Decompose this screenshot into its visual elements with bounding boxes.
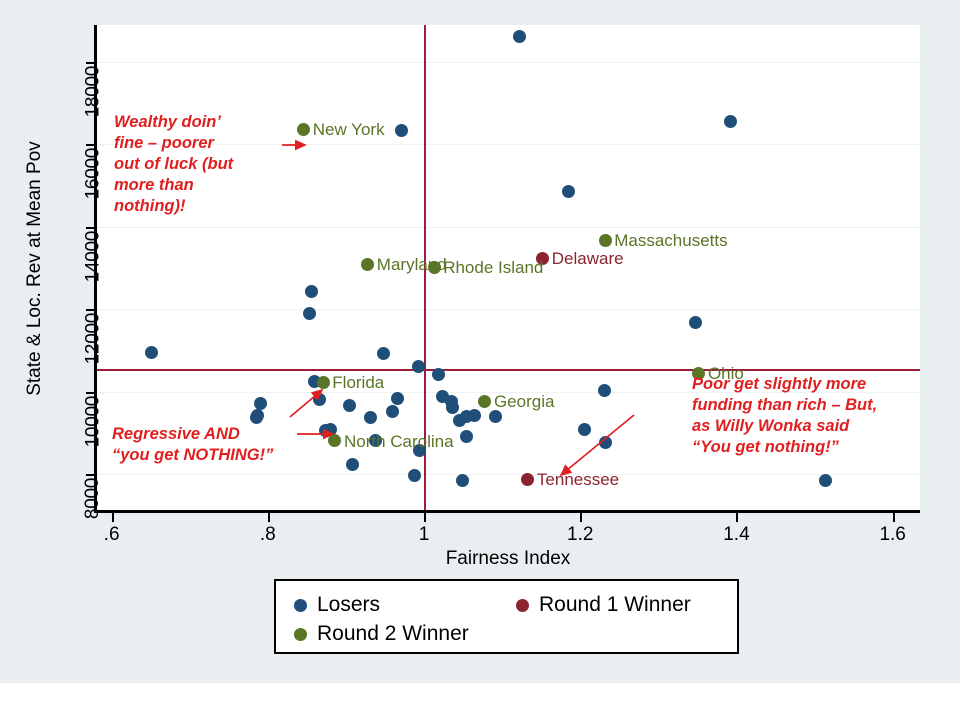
- x-tick-label: 1: [384, 524, 464, 546]
- y-tick: [86, 62, 95, 64]
- point-label-florida: Florida: [332, 374, 384, 391]
- scatter-point: [598, 384, 611, 397]
- scatter-point: [317, 376, 330, 389]
- scatter-point: [578, 423, 591, 436]
- x-tick: [736, 513, 738, 522]
- point-label-massachusetts: Massachusetts: [614, 232, 727, 249]
- scatter-point: [432, 368, 445, 381]
- point-label-new-york: New York: [313, 121, 385, 138]
- point-label-tennessee: Tennessee: [537, 471, 619, 488]
- y-tick-label: 16000: [82, 148, 104, 199]
- x-tick-label: 1.2: [540, 524, 620, 546]
- x-tick-label: .6: [72, 524, 152, 546]
- scatter-point: [689, 316, 702, 329]
- y-tick: [86, 227, 95, 229]
- legend-marker-round-2-winner: [294, 628, 307, 641]
- scatter-point: [456, 474, 469, 487]
- gridline-y: [96, 62, 920, 63]
- scatter-point: [819, 474, 832, 487]
- scatter-point: [343, 399, 356, 412]
- annotation-regressive: Regressive AND “you get NOTHING!”: [112, 424, 342, 466]
- point-label-rhode-island: Rhode Island: [443, 259, 543, 276]
- scatter-point: [361, 258, 374, 271]
- y-tick-label: 12000: [82, 313, 104, 364]
- x-axis-line: [94, 510, 920, 513]
- legend-item-round-1-winner[interactable]: Round 1 Winner: [516, 593, 691, 617]
- gridline-y: [96, 474, 920, 475]
- scatter-point: [395, 124, 408, 137]
- y-tick: [86, 309, 95, 311]
- gridline-y: [96, 227, 920, 228]
- legend-marker-round-1-winner: [516, 599, 529, 612]
- y-tick-label: 8000: [82, 478, 104, 519]
- legend: Losers Round 1 Winner Round 2 Winner: [274, 579, 739, 654]
- legend-label-round-1-winner: Round 1 Winner: [539, 593, 691, 617]
- reference-line-horizontal: [96, 369, 920, 371]
- scatter-point: [468, 409, 481, 422]
- point-label-delaware: Delaware: [552, 250, 624, 267]
- x-tick: [580, 513, 582, 522]
- scatter-point: [489, 410, 502, 423]
- scatter-point: [408, 469, 421, 482]
- x-tick-label: 1.4: [696, 524, 776, 546]
- scatter-point: [724, 115, 737, 128]
- scatter-point: [377, 347, 390, 360]
- scatter-point: [446, 401, 459, 414]
- scatter-point: [250, 411, 263, 424]
- scatter-point: [478, 395, 491, 408]
- scatter-point: [599, 234, 612, 247]
- point-label-maryland: Maryland: [377, 256, 447, 273]
- x-tick: [424, 513, 426, 522]
- scatter-point: [460, 430, 473, 443]
- scatter-point: [391, 392, 404, 405]
- legend-marker-losers: [294, 599, 307, 612]
- legend-label-round-2-winner: Round 2 Winner: [317, 622, 469, 646]
- chart-root: New YorkMassachusettsMarylandRhode Islan…: [0, 0, 960, 720]
- y-tick-label: 10000: [82, 396, 104, 447]
- gridline-y: [96, 309, 920, 310]
- y-tick: [86, 474, 95, 476]
- legend-label-losers: Losers: [317, 593, 380, 617]
- x-tick: [112, 513, 114, 522]
- y-tick: [86, 392, 95, 394]
- legend-item-round-2-winner[interactable]: Round 2 Winner: [294, 622, 469, 646]
- scatter-point: [364, 411, 377, 424]
- y-tick: [86, 144, 95, 146]
- scatter-point: [453, 414, 466, 427]
- x-axis-title: Fairness Index: [96, 548, 920, 570]
- y-tick-label: 18000: [82, 66, 104, 117]
- scatter-point: [305, 285, 318, 298]
- scatter-point: [313, 393, 326, 406]
- y-axis-title: State & Loc. Rev at Mean Pov: [22, 25, 48, 512]
- legend-item-losers[interactable]: Losers: [294, 593, 380, 617]
- y-tick-label: 14000: [82, 231, 104, 282]
- scatter-point: [303, 307, 316, 320]
- point-label-georgia: Georgia: [494, 393, 554, 410]
- scatter-point: [599, 436, 612, 449]
- x-tick: [893, 513, 895, 522]
- scatter-point: [346, 458, 359, 471]
- annotation-poor: Poor get slightly more funding than rich…: [692, 374, 922, 458]
- annotation-wealthy: Wealthy doin’ fine – poorer out of luck …: [114, 112, 294, 217]
- scatter-point: [297, 123, 310, 136]
- x-tick-label: .8: [228, 524, 308, 546]
- scatter-point: [562, 185, 575, 198]
- x-tick: [268, 513, 270, 522]
- point-label-north-carolina: North Carolina: [344, 433, 454, 450]
- x-tick-label: 1.6: [853, 524, 933, 546]
- scatter-point: [521, 473, 534, 486]
- scatter-point: [145, 346, 158, 359]
- scatter-point: [386, 405, 399, 418]
- scatter-point: [513, 30, 526, 43]
